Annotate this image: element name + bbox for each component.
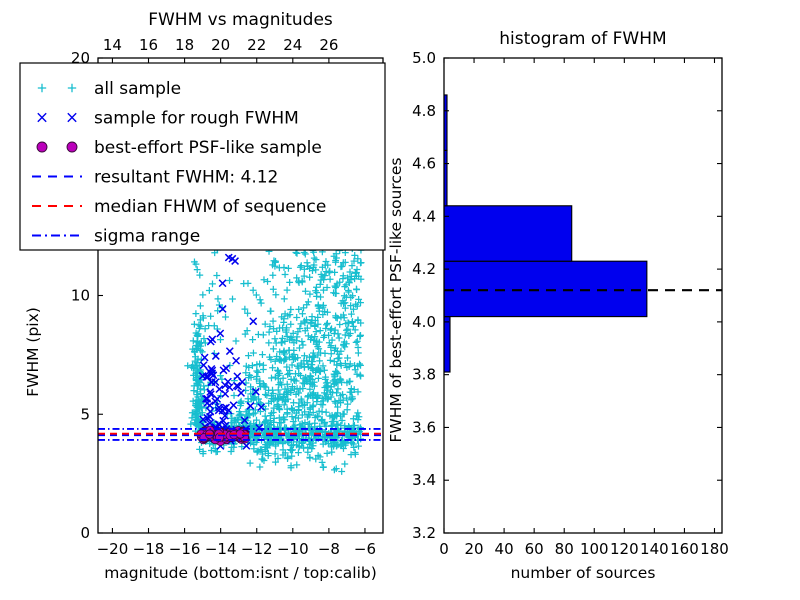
histogram-x-tick-label: 0 [439,540,449,558]
histogram-x-tick-label: 40 [495,540,514,558]
scatter-y-tick-label: 10 [71,287,90,305]
histogram-x-tick-label: 80 [555,540,574,558]
figure-canvas: FWHM vs magnitudes −20−18−16−14−12−10−8−… [0,0,800,600]
scatter-y-axis-label: FWHM (pix) [24,307,42,397]
scatter-top-x-tick-label: 26 [319,36,338,54]
scatter-x-tick-label: −14 [205,540,237,558]
scatter-x-tick-label: −8 [318,540,340,558]
scatter-x-tick-label: −18 [133,540,165,558]
scatter-y-tick-label: 5 [80,405,90,423]
histogram-y-tick-label: 4.6 [412,155,436,173]
legend-marker-circle [67,142,77,152]
histogram-y-tick-label: 5.0 [412,49,436,67]
scatter-x-tick-label: −10 [277,540,309,558]
histogram-x-axis-label: number of sources [511,564,656,582]
legend-entry-label: sample for rough FWHM [94,109,299,129]
histogram-y-tick-label: 4.2 [412,260,436,278]
scatter-top-x-tick-label: 20 [211,36,230,54]
histogram-y-tick-label: 4.0 [412,313,436,331]
scatter-x-axis-label: magnitude (bottom:isnt / top:calib) [104,564,377,582]
histogram-x-tick-label: 180 [700,540,729,558]
histogram-y-tick-label: 3.2 [412,524,436,542]
legend-entry-label: median FHWM of sequence [94,197,326,217]
matplotlib-figure: FWHM vs magnitudes −20−18−16−14−12−10−8−… [0,0,800,600]
scatter-top-x-tick-label: 22 [247,36,266,54]
histogram-bar [444,206,572,261]
histogram-x-tick-label: 60 [525,540,544,558]
histogram-x-tick-label: 20 [465,540,484,558]
histogram-y-tick-label: 3.6 [412,418,436,436]
histogram-x-tick-label: 140 [640,540,669,558]
scatter-x-tick-label: −16 [169,540,201,558]
histogram-x-tick-label: 100 [580,540,609,558]
scatter-x-tick-label: −12 [241,540,273,558]
histogram-y-tick-label: 4.4 [412,207,436,225]
histogram-y-tick-label: 4.8 [412,102,436,120]
scatter-top-x-tick-label: 18 [175,36,194,54]
scatter-top-x-tick-label: 16 [139,36,158,54]
histogram-bar [444,317,450,372]
scatter-x-tick-label: −6 [354,540,376,558]
histogram-x-tick-label: 120 [610,540,639,558]
histogram-title: histogram of FWHM [499,29,666,49]
scatter-y-tick-label: 0 [80,524,90,542]
scatter-legend[interactable]: all samplesample for rough FWHMbest-effo… [20,63,385,250]
histogram-bar [444,261,647,316]
scatter-top-x-tick-label: 24 [283,36,302,54]
scatter-plot-title: FWHM vs magnitudes [148,10,333,30]
scatter-top-x-tick-label: 14 [103,36,122,54]
legend-entry-label: sigma range [94,227,200,247]
histogram-x-tick-label: 160 [670,540,699,558]
histogram-y-tick-label: 3.8 [412,366,436,384]
histogram-y-tick-label: 3.4 [412,471,436,489]
legend-marker-circle [37,142,47,152]
legend-entry-label: best-effort PSF-like sample [94,138,322,158]
histogram-y-axis-label: FWHM of best-effort PSF-like sources [387,157,405,442]
scatter-x-tick-label: −20 [97,540,129,558]
legend-entry-label: all sample [94,79,181,99]
legend-entry-label: resultant FWHM: 4.12 [94,168,278,188]
